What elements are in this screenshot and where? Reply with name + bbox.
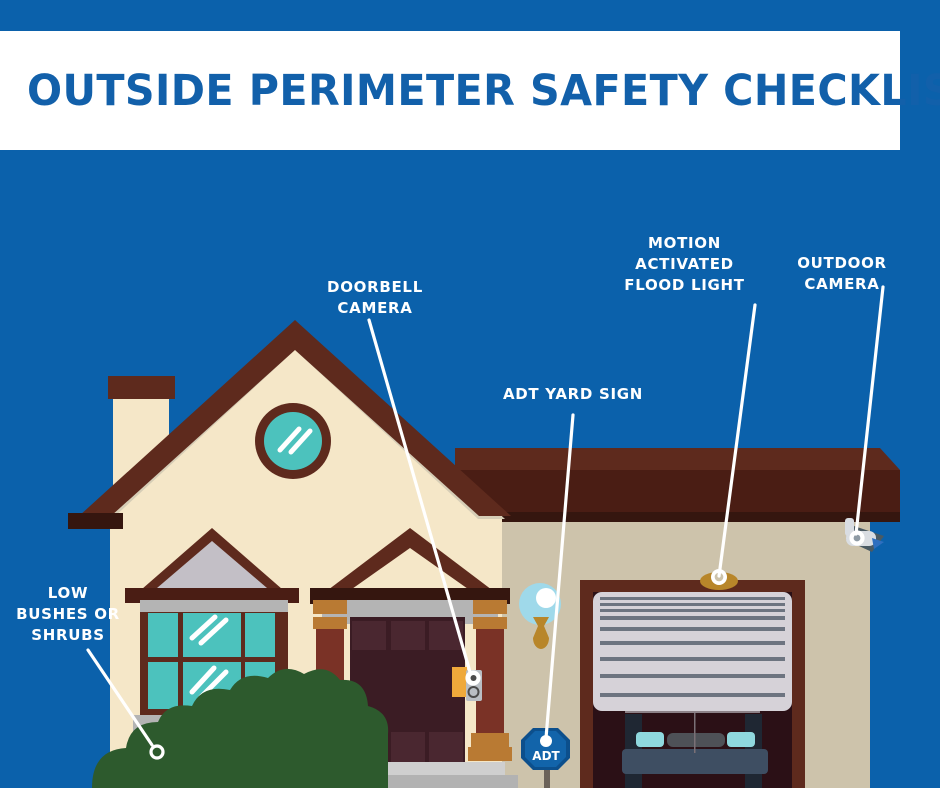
- attic-window-glass: [264, 412, 322, 470]
- column-left-capital: [313, 600, 347, 614]
- garage-roof-top: [455, 448, 900, 470]
- callout-motion-activated-flood-light: MOTION ACTIVATED FLOOD LIGHT: [607, 233, 762, 296]
- callout-outdoor-camera: OUTDOOR CAMERA: [772, 253, 912, 295]
- callout-adt-yard-sign: ADT YARD SIGN: [498, 384, 648, 405]
- window-pane-3: [245, 613, 275, 657]
- doorbell-light-panel: [452, 667, 467, 697]
- roof-eave-left: [68, 513, 123, 529]
- car-headlight-left: [636, 732, 664, 747]
- garage-eave: [455, 512, 900, 522]
- car-headlight-right: [727, 732, 755, 747]
- callout-doorbell-camera: DOORBELL CAMERA: [300, 277, 450, 319]
- column-right-capital: [473, 600, 507, 614]
- yard-sign-brand-text: ADT: [532, 749, 560, 763]
- car-center-seam: [694, 713, 696, 753]
- sconce-bulb: [536, 588, 556, 608]
- house-illustration: ADT: [0, 0, 940, 788]
- column-right-base: [471, 733, 509, 747]
- car-grille: [667, 733, 725, 747]
- callout-low-bushes-or-shrubs: LOW BUSHES OR SHRUBS: [8, 583, 128, 646]
- column-right-plinth: [468, 747, 512, 761]
- window-pane-1: [148, 613, 178, 657]
- outdoor-camera-lens: [854, 535, 861, 542]
- window-pane-4: [148, 662, 178, 709]
- chimney-cap: [108, 376, 175, 399]
- column-right-band: [473, 617, 507, 629]
- infographic-canvas: OUTSIDE PERIMETER SAFETY CHECKLIST: [0, 0, 940, 788]
- doorbell-camera-lens: [471, 675, 477, 681]
- garage-door[interactable]: [593, 592, 792, 711]
- column-left-band: [313, 617, 347, 629]
